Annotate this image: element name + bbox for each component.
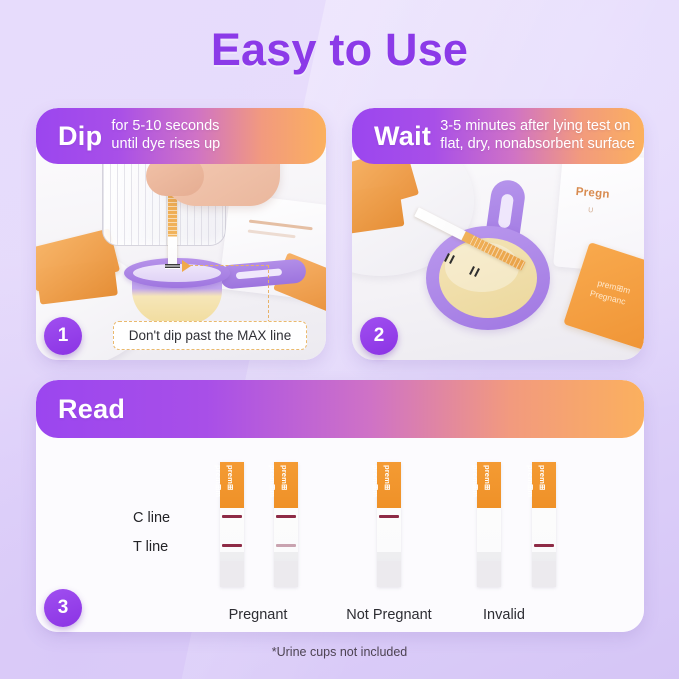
strip-absorbent-pad — [532, 561, 556, 587]
step-card-wait: Pregn U prem⊞m Pregnanc — [352, 108, 644, 360]
step-badge-1: 1 — [44, 317, 82, 355]
callout-leader-line — [190, 265, 269, 328]
strip-brand-text: prem⊞ — [383, 465, 392, 490]
t-line-band-faint — [276, 544, 296, 547]
c-line-band — [276, 515, 296, 518]
strip-absorbent-pad — [274, 561, 298, 587]
strip-cap: prem⊞m prem⊞ — [377, 462, 401, 508]
t-line-label: T line — [133, 539, 168, 555]
max-line-marker — [165, 264, 180, 269]
c-line-band — [379, 515, 399, 518]
t-line-band — [222, 544, 242, 547]
wait-subtext: 3-5 minutes after lying test on flat, dr… — [440, 118, 635, 153]
t-line-band — [534, 544, 554, 547]
page-title: Easy to Use — [0, 24, 679, 76]
leaflet-subtitle: U — [588, 207, 594, 214]
strip-absorbent-pad — [477, 561, 501, 587]
footnote: *Urine cups not included — [0, 645, 679, 659]
strip-cap: prem⊞m prem⊞ — [220, 462, 244, 508]
result-strip-not-pregnant: prem⊞m prem⊞ — [377, 462, 401, 587]
result-strip-invalid-a: prem⊞m prem⊞ — [477, 462, 501, 587]
strip-absorbent-pad — [377, 561, 401, 587]
read-diagram: C line T line prem⊞m prem⊞ prem⊞m prem⊞ — [36, 438, 644, 632]
step-badge-3: 3 — [44, 589, 82, 627]
strip-brand-text: prem⊞m — [268, 465, 277, 497]
dip-ribbon: Dip for 5-10 seconds until dye rises up — [36, 108, 326, 164]
strip-brand-text: prem⊞m — [371, 465, 380, 497]
step-badge-2: 2 — [360, 317, 398, 355]
read-ribbon: Read — [36, 380, 644, 438]
step-card-read: Read C line T line prem⊞m prem⊞ prem⊞m p… — [36, 380, 644, 632]
strip-brand-text: prem⊞m — [214, 465, 223, 497]
purple-collection-cup — [426, 196, 550, 332]
strip-brand-text: prem⊞m — [526, 465, 535, 497]
leaflet-title: Pregn — [575, 186, 610, 201]
read-word: Read — [58, 394, 125, 425]
wait-word: Wait — [374, 121, 431, 152]
strip-brand-text: prem⊞ — [280, 465, 289, 490]
result-caption-not-pregnant: Not Pregnant — [323, 607, 455, 623]
result-strip-pregnant-a: prem⊞m prem⊞ — [220, 462, 244, 587]
max-line-callout: Don't dip past the MAX line — [113, 321, 307, 350]
page-background: Easy to Use — [0, 0, 679, 679]
strip-absorbent-pad — [220, 561, 244, 587]
result-strip-pregnant-b: prem⊞m prem⊞ — [274, 462, 298, 587]
strip-brand-text: prem⊞ — [538, 465, 547, 490]
result-strip-invalid-b: prem⊞m prem⊞ — [532, 462, 556, 587]
dip-word: Dip — [58, 121, 102, 152]
strip-brand-text: prem⊞m — [471, 465, 480, 497]
strip-cap: prem⊞m prem⊞ — [274, 462, 298, 508]
result-caption-pregnant: Pregnant — [192, 607, 324, 623]
strip-cap: prem⊞m prem⊞ — [532, 462, 556, 508]
strip-brand-text: prem⊞ — [483, 465, 492, 490]
strip-brand-text: prem⊞ — [226, 465, 235, 490]
dip-subtext: for 5-10 seconds until dye rises up — [111, 118, 220, 153]
strip-cap: prem⊞m prem⊞ — [477, 462, 501, 508]
c-line-band — [222, 515, 242, 518]
result-caption-invalid: Invalid — [438, 607, 570, 623]
c-line-label: C line — [133, 510, 170, 526]
wait-ribbon: Wait 3-5 minutes after lying test on fla… — [352, 108, 644, 164]
